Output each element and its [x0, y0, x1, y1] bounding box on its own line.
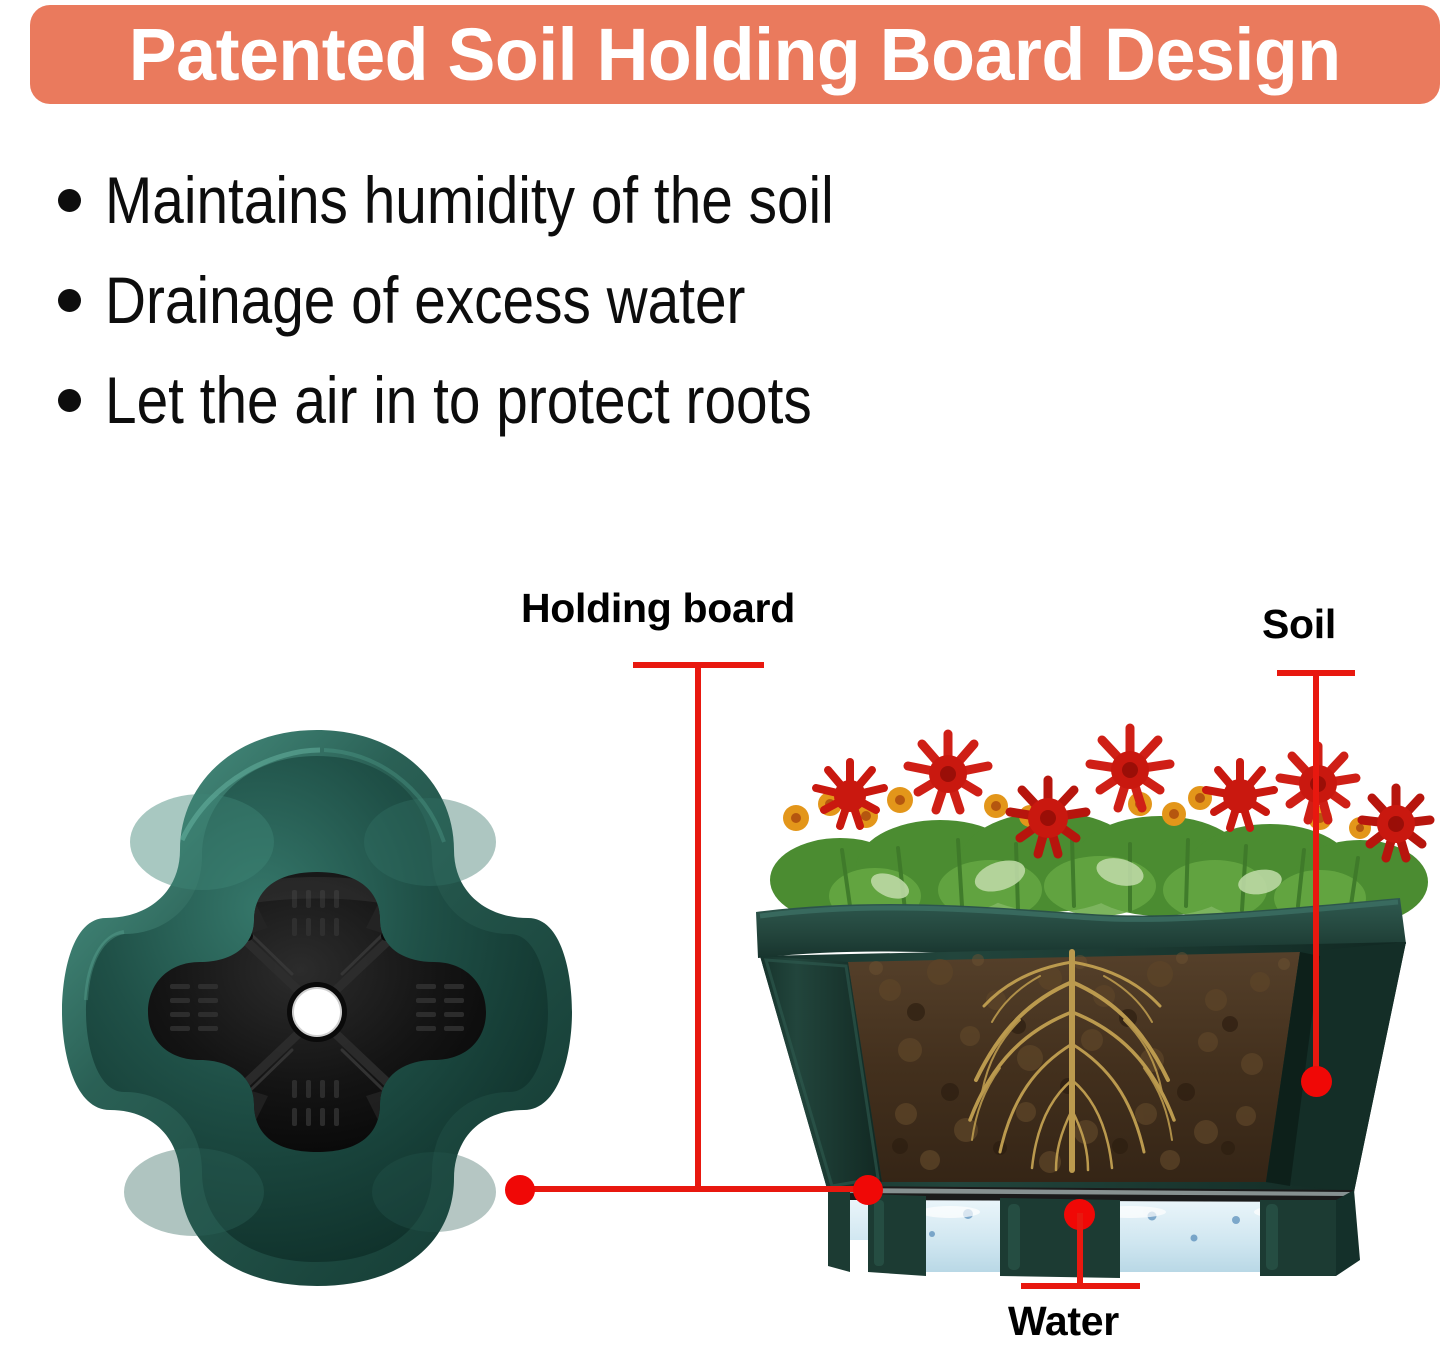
- callout-soil-marker: [1301, 1066, 1332, 1097]
- callout-holding-board-arm: [519, 1186, 869, 1192]
- bullet-dot-icon: [58, 189, 81, 212]
- callout-water-bar: [1021, 1283, 1140, 1289]
- product-image-holding-board-topview: [62, 722, 572, 1292]
- callout-holding-board-stem: [695, 662, 701, 1189]
- callout-label-water: Water: [1008, 1299, 1119, 1343]
- feature-text: Drainage of excess water: [105, 267, 745, 333]
- callout-label-soil: Soil: [1262, 602, 1336, 646]
- pot-feet: [828, 1190, 1360, 1278]
- list-item: Maintains humidity of the soil: [58, 150, 1158, 250]
- infographic-canvas: Patented Soil Holding Board Design Maint…: [0, 0, 1445, 1358]
- callout-holding-board-marker-right: [853, 1175, 883, 1205]
- list-item: Drainage of excess water: [58, 250, 1158, 350]
- feature-text: Maintains humidity of the soil: [105, 167, 834, 233]
- chrysanthemum-flowers: [770, 728, 1430, 926]
- page-title: Patented Soil Holding Board Design: [129, 18, 1341, 92]
- bullet-dot-icon: [58, 289, 81, 312]
- feature-text: Let the air in to protect roots: [105, 367, 812, 433]
- callout-label-holding-board: Holding board: [521, 586, 795, 630]
- list-item: Let the air in to protect roots: [58, 350, 1158, 450]
- feature-list: Maintains humidity of the soil Drainage …: [58, 150, 1158, 450]
- callout-water-stem: [1077, 1213, 1083, 1287]
- bullet-dot-icon: [58, 389, 81, 412]
- callout-holding-board-marker-left: [505, 1175, 535, 1205]
- callout-soil-stem: [1313, 670, 1319, 1082]
- header-banner: Patented Soil Holding Board Design: [30, 5, 1440, 104]
